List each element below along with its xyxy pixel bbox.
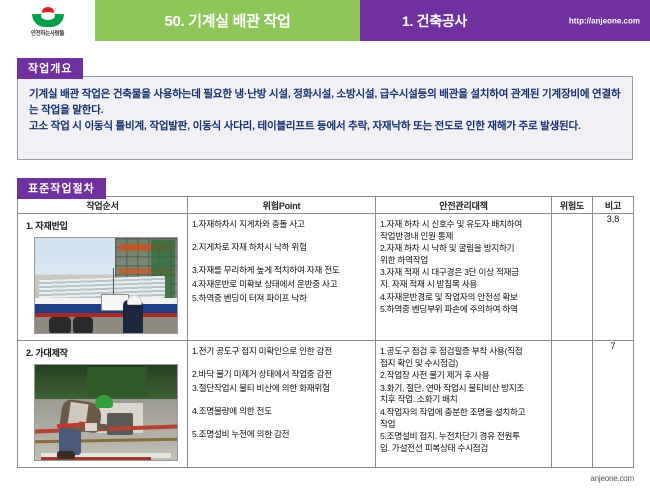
cell-order: 2. 가대제작: [18, 341, 188, 468]
page-header: 안전하는사람들 50. 기계실 배관 작업 1. 건축공사 http://anj…: [0, 0, 650, 41]
header-category-band: 1. 건축공사 http://anjeone.com: [360, 0, 650, 41]
col-header-risk: 위험도: [552, 197, 593, 214]
hazard-item: 2.바닥 물기 미제거 상태에서 작업중 감전: [192, 369, 371, 380]
measure-item: 2.자재 하차 시 낙하 및 굴림을 방지하기 위한 하역작업: [380, 243, 547, 266]
order-step-title: 1. 자재반입: [26, 219, 187, 232]
cell-hazard-points: 1.자재하차시 지게차와 충돌 사고 2.지게차로 자재 하차시 낙하 위험 3…: [188, 214, 376, 341]
hazard-item: 4.조명불량에 의한 전도: [192, 406, 371, 417]
photo-worker-helmet: [127, 295, 142, 305]
photo-cutting-machine: [107, 413, 133, 435]
hazard-item: 5.조명설비 누전에 의한 감전: [192, 429, 371, 440]
step-photo-material-delivery: [34, 237, 178, 334]
photo-worker-boot: [57, 451, 75, 459]
measure-item: 4.작업자의 작업에 충분한 조명을 설치하고 작업: [380, 407, 547, 430]
photo-green-panel: [87, 367, 147, 397]
section-tab-overview: 작업개요: [17, 58, 83, 79]
cell-safety-measures: 1.공도구 점검 후 점검필증 부착 사용(직접 접지 확인 및 수시점검) 2…: [376, 341, 552, 468]
step-photo-frame-fabrication: [34, 364, 178, 461]
col-header-measure: 안전관리대책: [376, 197, 552, 214]
cell-hazard-points: 1.전기 공도구 접지 미확인으로 인한 감전 2.바닥 물기 미제거 상태에서…: [188, 341, 376, 468]
photo-green-helmet: [95, 395, 113, 408]
logo-text: 안전하는사람들: [31, 29, 64, 37]
standard-procedure-table: 작업순서 위험Point 안전관리대책 위험도 비고 1. 자재반입: [17, 196, 634, 468]
col-header-note: 비고: [593, 197, 634, 214]
table-row: 1. 자재반입: [18, 214, 634, 341]
photo-worker: [123, 300, 143, 334]
overview-body-text: 기계실 배관 작업은 건축물을 사용하는데 필요한 냉·난방 시설, 정화시설,…: [18, 77, 632, 134]
overview-panel: 기계실 배관 작업은 건축물을 사용하는데 필요한 냉·난방 시설, 정화시설,…: [17, 76, 633, 160]
cell-risk-level: [552, 214, 593, 341]
order-step-title: 2. 가대제작: [26, 346, 187, 359]
hazard-item: 2.지게차로 자재 하차시 낙하 위험: [192, 242, 371, 253]
table-body: 1. 자재반입: [18, 214, 634, 468]
measure-item: 3.화기, 절단, 연마 작업시 불티비산 방지조 치후 작업. 소화기 배치: [380, 383, 547, 406]
site-url-link[interactable]: http://anjeone.com: [569, 16, 640, 25]
section-tab-procedure: 표준작업절차: [17, 178, 106, 199]
measure-item: 3.자재 적재 시 대구경은 3단 이상 적재금 지. 자재 적재 시 받침목 …: [380, 267, 547, 290]
measure-item: 5.조명설비 접지. 누전차단기 경유 전원투 입. 가설전선 피복상태 수시점…: [380, 431, 547, 454]
logo-mark-icon: [31, 7, 65, 27]
cell-note: 7: [593, 341, 634, 468]
cell-note: 3,8: [593, 214, 634, 341]
table-row: 2. 가대제작: [18, 341, 634, 468]
page-title: 50. 기계실 배관 작업: [164, 10, 290, 31]
table-header-row: 작업순서 위험Point 안전관리대책 위험도 비고: [18, 197, 634, 214]
photo-truck-wheel: [73, 317, 93, 334]
measure-item: 4.자재운반경로 및 작업자의 안전성 확보: [380, 292, 547, 304]
brand-logo: 안전하는사람들: [0, 0, 95, 41]
photo-truck-wheel: [49, 317, 71, 334]
slide-page: 안전하는사람들 50. 기계실 배관 작업 1. 건축공사 http://anj…: [0, 0, 650, 488]
hazard-item: 3.자재를 무리하게 높게 적치하여 자재 전도: [192, 265, 371, 276]
col-header-hazard: 위험Point: [188, 197, 376, 214]
measure-item: 1.자재 하차 시 신호수 및 유도자 배치하여 작업반경내 인원 통제: [380, 219, 547, 242]
photo-worker-glove: [85, 423, 97, 431]
hazard-item: 3.절단작업시 불티 비산에 의한 화재위험: [192, 383, 371, 394]
cell-order: 1. 자재반입: [18, 214, 188, 341]
col-header-order: 작업순서: [18, 197, 188, 214]
cell-safety-measures: 1.자재 하차 시 신호수 및 유도자 배치하여 작업반경내 인원 통제 2.자…: [376, 214, 552, 341]
measure-item: 2.작업장 사전 물기 제거 후 사용: [380, 370, 547, 382]
hazard-item: 5.하역중 벤딩이 터져 파이프 낙하: [192, 293, 371, 304]
measure-item: 1.공도구 점검 후 점검필증 부착 사용(직접 접지 확인 및 수시점검): [380, 346, 547, 369]
hazard-item: 4.자재운반로 미확보 상태에서 운반중 사고: [192, 279, 371, 290]
logo-green-bowl-icon: [32, 14, 64, 27]
header-title-band: 50. 기계실 배관 작업: [95, 0, 360, 41]
cell-risk-level: [552, 341, 593, 468]
measure-item: 5.하역중 벤딩부위 파손에 주의하여 하역: [380, 304, 547, 316]
hazard-item: 1.자재하차시 지게차와 충돌 사고: [192, 219, 371, 230]
table-header: 작업순서 위험Point 안전관리대책 위험도 비고: [18, 197, 634, 214]
hazard-item: 1.전기 공도구 접지 미확인으로 인한 감전: [192, 346, 371, 357]
photo-lifting-rope: [113, 268, 114, 295]
category-label: 1. 건축공사: [402, 11, 467, 31]
footer-site-label: anjeone.com: [590, 474, 634, 483]
